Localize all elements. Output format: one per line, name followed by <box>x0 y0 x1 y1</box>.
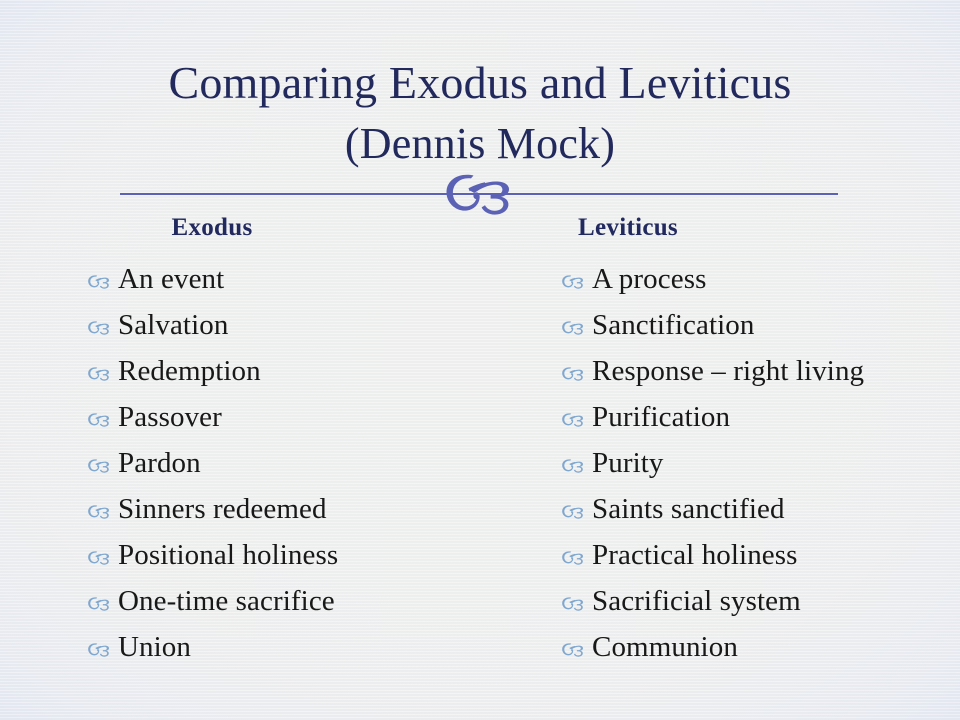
list-item-label: Communion <box>592 630 738 664</box>
title-line-secondary: (Dennis Mock) <box>60 113 900 174</box>
cb-flourish-bullet-icon <box>560 365 592 387</box>
list-item-label: An event <box>118 262 224 296</box>
cb-flourish-bullet-icon <box>86 595 118 617</box>
cb-flourish-bullet-icon <box>560 457 592 479</box>
list-item: Sanctification <box>560 308 960 354</box>
cb-flourish-bullet-icon <box>560 549 592 571</box>
list-item: One-time sacrifice <box>86 584 480 630</box>
list-item: Pardon <box>86 446 480 492</box>
list-item-label: One-time sacrifice <box>118 584 335 618</box>
list-item-label: Practical holiness <box>592 538 798 572</box>
list-item: Union <box>86 630 480 676</box>
cb-flourish-bullet-icon <box>560 503 592 525</box>
list-item-label: Passover <box>118 400 222 434</box>
cb-flourish-bullet-icon <box>560 641 592 663</box>
cb-flourish-bullet-icon <box>560 411 592 433</box>
list-item-label: Salvation <box>118 308 228 342</box>
list-item-label: Purity <box>592 446 664 480</box>
list-item-label: Response – right living <box>592 354 864 388</box>
cb-flourish-bullet-icon <box>560 273 592 295</box>
list-item-label: Sanctification <box>592 308 754 342</box>
list-item: A process <box>560 262 960 308</box>
list-item: An event <box>86 262 480 308</box>
column-header-leviticus: Leviticus <box>418 214 838 242</box>
list-item-label: A process <box>592 262 706 296</box>
list-item-label: Purification <box>592 400 730 434</box>
column-header-exodus: Exodus <box>2 214 422 242</box>
cb-flourish-bullet-icon <box>86 641 118 663</box>
cb-flourish-bullet-icon <box>560 319 592 341</box>
list-item: Passover <box>86 400 480 446</box>
cb-flourish-ornament-icon <box>440 168 518 218</box>
cb-flourish-bullet-icon <box>86 503 118 525</box>
column-headers: Exodus Leviticus <box>60 214 900 242</box>
list-item: Purification <box>560 400 960 446</box>
list-item: Redemption <box>86 354 480 400</box>
cb-flourish-bullet-icon <box>86 365 118 387</box>
list-item-label: Positional holiness <box>118 538 338 572</box>
slide-canvas: Comparing Exodus and Leviticus (Dennis M… <box>0 0 960 720</box>
list-item-label: Saints sanctified <box>592 492 785 526</box>
list-item-label: Pardon <box>118 446 201 480</box>
list-item: Purity <box>560 446 960 492</box>
list-item: Saints sanctified <box>560 492 960 538</box>
list-item-label: Sacrificial system <box>592 584 801 618</box>
list-item: Salvation <box>86 308 480 354</box>
cb-flourish-bullet-icon <box>86 319 118 341</box>
list-item: Communion <box>560 630 960 676</box>
title-divider <box>120 192 838 195</box>
bullet-column-exodus: An event Salvation Redemption Passover P… <box>0 262 480 676</box>
page-title: Comparing Exodus and Leviticus (Dennis M… <box>60 52 900 174</box>
list-item: Sacrificial system <box>560 584 960 630</box>
comparison-columns: An event Salvation Redemption Passover P… <box>0 262 960 676</box>
list-item-label: Union <box>118 630 191 664</box>
list-item: Positional holiness <box>86 538 480 584</box>
list-item: Practical holiness <box>560 538 960 584</box>
cb-flourish-bullet-icon <box>86 457 118 479</box>
title-line-primary: Comparing Exodus and Leviticus <box>60 52 900 113</box>
list-item: Sinners redeemed <box>86 492 480 538</box>
cb-flourish-bullet-icon <box>560 595 592 617</box>
list-item-label: Redemption <box>118 354 261 388</box>
cb-flourish-bullet-icon <box>86 273 118 295</box>
list-item-label: Sinners redeemed <box>118 492 327 526</box>
list-item: Response – right living <box>560 354 960 400</box>
bullet-column-leviticus: A process Sanctification Response – righ… <box>480 262 960 676</box>
cb-flourish-bullet-icon <box>86 411 118 433</box>
cb-flourish-bullet-icon <box>86 549 118 571</box>
